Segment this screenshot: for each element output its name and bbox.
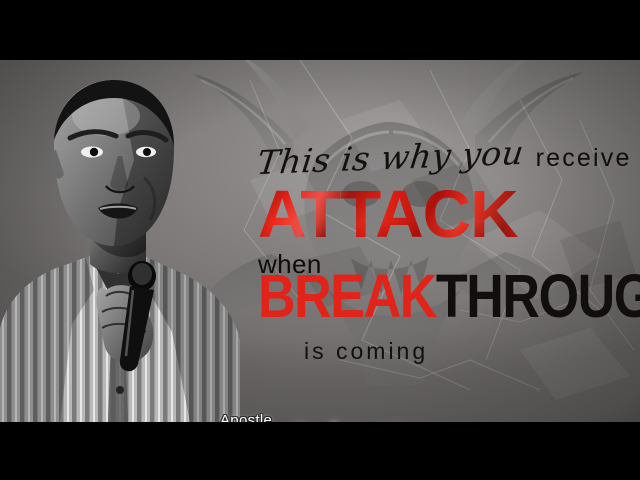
- signature-title: Apostle: [220, 412, 272, 422]
- thumbnail-stage: This is why you receive ATTACK when BREA…: [0, 60, 640, 422]
- headline-line-5: is coming: [258, 338, 630, 366]
- video-thumbnail: This is why you receive ATTACK when BREA…: [0, 0, 640, 480]
- speaker-portrait: [0, 60, 259, 422]
- text-break: BREAK: [258, 270, 436, 324]
- text-attack: ATTACK: [258, 182, 630, 248]
- letterbox-bar-bottom: [0, 422, 640, 480]
- headline-line-4: BREAKTHROUGH: [258, 278, 630, 324]
- text-is-coming: is coming: [304, 338, 428, 364]
- signature-name: Joshua Selman: [162, 415, 409, 422]
- text-through: THROUGH: [436, 270, 640, 324]
- headline-block: This is why you receive ATTACK when BREA…: [258, 138, 630, 366]
- text-receive: receive: [536, 138, 632, 178]
- headline-line-2: ATTACK: [258, 182, 630, 246]
- speaker-signature: Apostle Joshua Selman: [166, 412, 386, 422]
- script-text-this-is-why-you: This is why you: [255, 133, 526, 183]
- letterbox-bar-top: [0, 0, 640, 60]
